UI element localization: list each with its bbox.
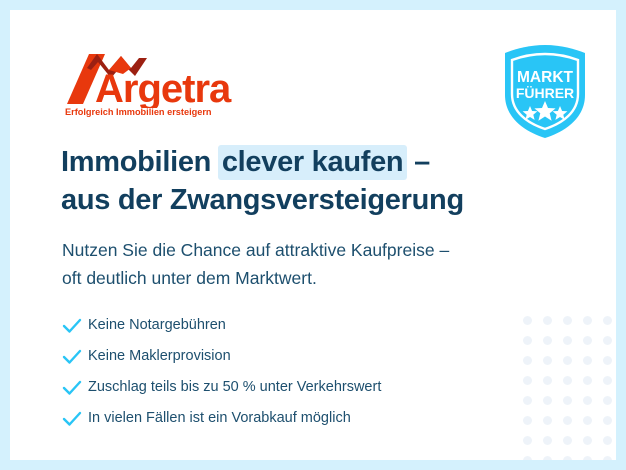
logo-tagline: Erfolgreich Immobilien ersteigern: [65, 107, 212, 117]
decorative-dot: [543, 336, 552, 345]
benefits-list: Keine Notargebühren Keine Maklerprovisio…: [62, 310, 502, 434]
list-item: In vielen Fällen ist ein Vorabkauf mögli…: [62, 403, 502, 434]
check-icon: [62, 411, 88, 427]
decorative-dot: [523, 356, 532, 365]
decorative-dot: [603, 396, 612, 405]
argetra-logo: Argetra Erfolgreich Immobilien ersteiger…: [65, 52, 265, 122]
decorative-dot: [603, 356, 612, 365]
check-icon: [62, 318, 88, 334]
decorative-dot: [583, 336, 592, 345]
list-item: Zuschlag teils bis zu 50 % unter Verkehr…: [62, 372, 502, 403]
decorative-dot: [543, 396, 552, 405]
decorative-dot: [583, 396, 592, 405]
headline-post: –: [406, 146, 430, 178]
decorative-dot: [563, 316, 572, 325]
badge-line1: MARKT: [517, 69, 573, 86]
decorative-dot: [583, 456, 592, 461]
subtitle-line-2: oft deutlich unter dem Marktwert.: [62, 264, 542, 292]
decorative-dot: [543, 416, 552, 425]
decorative-dot: [603, 376, 612, 385]
decorative-dot: [543, 316, 552, 325]
decorative-dot: [583, 416, 592, 425]
outer-frame: Argetra Erfolgreich Immobilien ersteiger…: [0, 0, 626, 470]
decorative-dot: [523, 396, 532, 405]
list-item-label: Keine Maklerprovision: [88, 349, 231, 364]
headline-line-2: aus der Zwangsversteigerung: [61, 181, 531, 219]
decorative-dot: [603, 336, 612, 345]
decorative-dot: [563, 336, 572, 345]
decorative-dot: [603, 436, 612, 445]
decorative-dot: [543, 376, 552, 385]
headline-pre: Immobilien: [61, 146, 219, 178]
list-item: Keine Maklerprovision: [62, 341, 502, 372]
list-item-label: Zuschlag teils bis zu 50 % unter Verkehr…: [88, 380, 381, 395]
decorative-dot: [523, 416, 532, 425]
headline-line-1: Immobilien clever kaufen –: [61, 143, 531, 181]
dot-pattern-decoration: [506, 310, 616, 460]
decorative-dot: [563, 456, 572, 461]
decorative-dot: [563, 416, 572, 425]
decorative-dot: [583, 316, 592, 325]
promo-card: Argetra Erfolgreich Immobilien ersteiger…: [10, 10, 616, 460]
decorative-dot: [583, 376, 592, 385]
list-item: Keine Notargebühren: [62, 310, 502, 341]
list-item-label: In vielen Fällen ist ein Vorabkauf mögli…: [88, 411, 351, 426]
decorative-dot: [523, 336, 532, 345]
list-item-label: Keine Notargebühren: [88, 318, 226, 333]
decorative-dot: [603, 316, 612, 325]
decorative-dot: [563, 396, 572, 405]
subtitle-line-1: Nutzen Sie die Chance auf attraktive Kau…: [62, 236, 542, 264]
check-icon: [62, 380, 88, 396]
page-title: Immobilien clever kaufen – aus der Zwang…: [61, 143, 531, 219]
decorative-dot: [543, 456, 552, 461]
page-subtitle: Nutzen Sie die Chance auf attraktive Kau…: [62, 236, 542, 292]
svg-text:Argetra: Argetra: [95, 67, 232, 108]
markt-fuehrer-badge: MARKT FÜHRER: [499, 43, 591, 140]
decorative-dot: [563, 376, 572, 385]
argetra-logo-mark: Argetra: [65, 52, 265, 108]
decorative-dot: [543, 436, 552, 445]
decorative-dot: [583, 356, 592, 365]
badge-line2: FÜHRER: [516, 85, 574, 101]
decorative-dot: [523, 436, 532, 445]
decorative-dot: [603, 416, 612, 425]
headline-highlight: clever kaufen: [218, 145, 408, 180]
decorative-dot: [563, 356, 572, 365]
decorative-dot: [543, 356, 552, 365]
check-icon: [62, 349, 88, 365]
decorative-dot: [603, 456, 612, 461]
decorative-dot: [523, 456, 532, 461]
decorative-dot: [583, 436, 592, 445]
decorative-dot: [563, 436, 572, 445]
decorative-dot: [523, 376, 532, 385]
decorative-dot: [523, 316, 532, 325]
shield-icon: MARKT FÜHRER: [499, 43, 591, 140]
